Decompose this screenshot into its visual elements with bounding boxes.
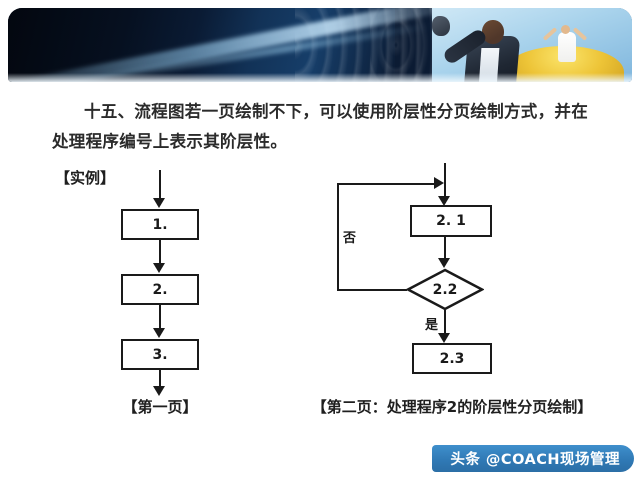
banner-bottom-fade <box>8 73 632 82</box>
photo-businessman <box>446 12 532 82</box>
photo-man-head <box>482 20 504 44</box>
photo-woman-body <box>558 32 576 62</box>
right-node-2-1[interactable]: 2. 1 <box>410 205 492 237</box>
loopback-bottom-segment <box>337 289 407 291</box>
right-edge-label-yes: 是 <box>425 314 438 333</box>
loopback-left-segment <box>337 183 339 291</box>
right-node-2-2-label: 2.2 <box>406 268 484 311</box>
right-node-2-2[interactable]: 2.2 <box>406 268 484 311</box>
watermark-text: 头条 @COACH现场管理 <box>450 448 620 469</box>
photo-man-hand <box>432 16 450 36</box>
left-edge-in-arrowhead <box>153 198 165 208</box>
left-node-2-label: 2. <box>152 282 167 298</box>
header-banner-image <box>8 8 632 82</box>
right-node-2-3-label: 2.3 <box>440 351 465 367</box>
loopback-arrowhead <box>434 177 444 189</box>
right-chart-caption: 【第二页：处理程序2的阶层性分页绘制】 <box>307 396 597 417</box>
photo-woman-head <box>561 25 570 34</box>
left-node-3[interactable]: 3. <box>121 339 199 370</box>
right-edge-22-23-arrowhead <box>438 333 450 343</box>
left-edge-in-line <box>159 170 161 200</box>
left-node-1-label: 1. <box>152 217 167 233</box>
banner-people-photo <box>432 8 632 82</box>
right-node-2-3[interactable]: 2.3 <box>412 343 492 374</box>
left-edge-out-arrowhead <box>153 386 165 396</box>
left-node-3-label: 3. <box>152 347 167 363</box>
right-edge-label-no: 否 <box>343 227 356 246</box>
left-edge-1-2-arrowhead <box>153 263 165 273</box>
right-node-2-1-label: 2. 1 <box>436 213 466 229</box>
left-node-2[interactable]: 2. <box>121 274 199 305</box>
watermark-badge: 头条 @COACH现场管理 <box>432 445 634 472</box>
left-edge-2-3-arrowhead <box>153 328 165 338</box>
left-chart-caption: 【第一页】 <box>121 396 199 417</box>
loopback-top-segment <box>337 183 437 185</box>
example-label: 【实例】 <box>55 167 115 188</box>
slide-body-text: 十五、流程图若一页绘制不下，可以使用阶层性分页绘制方式，并在处理程序编号上表示其… <box>52 97 597 157</box>
left-node-1[interactable]: 1. <box>121 209 199 240</box>
right-edge-21-22-arrowhead <box>438 258 450 268</box>
